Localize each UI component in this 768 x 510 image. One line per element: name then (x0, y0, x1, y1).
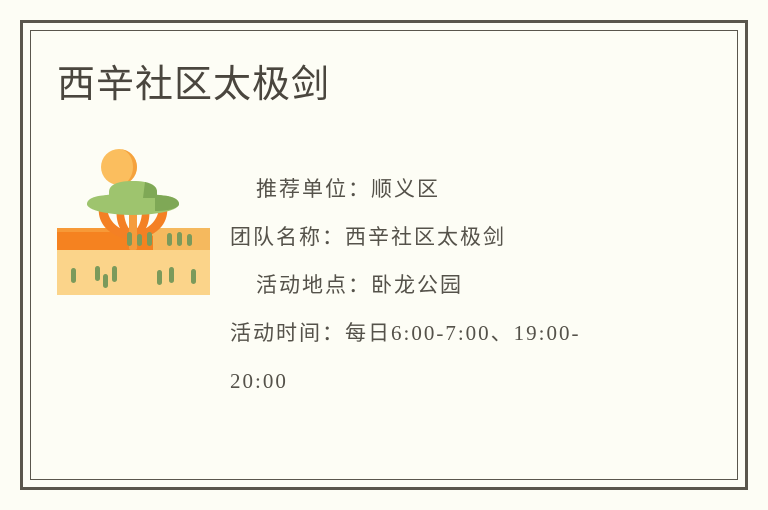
info-line-location: 活动地点：卧龙公园 (230, 261, 630, 309)
page-title: 西辛社区太极剑 (57, 62, 330, 108)
info-line-time: 活动时间：每日6:00-7:00、19:00-20:00 (230, 309, 630, 405)
info-line-recommending-unit: 推荐单位：顺义区 (230, 165, 630, 213)
info-line-team-name: 团队名称：西辛社区太极剑 (230, 213, 630, 261)
savanna-park-illustration (57, 140, 210, 295)
poster-card: 西辛社区太极剑 (0, 0, 768, 510)
activity-info-block: 推荐单位：顺义区 团队名称：西辛社区太极剑 活动地点：卧龙公园 活动时间：每日6… (230, 165, 630, 405)
